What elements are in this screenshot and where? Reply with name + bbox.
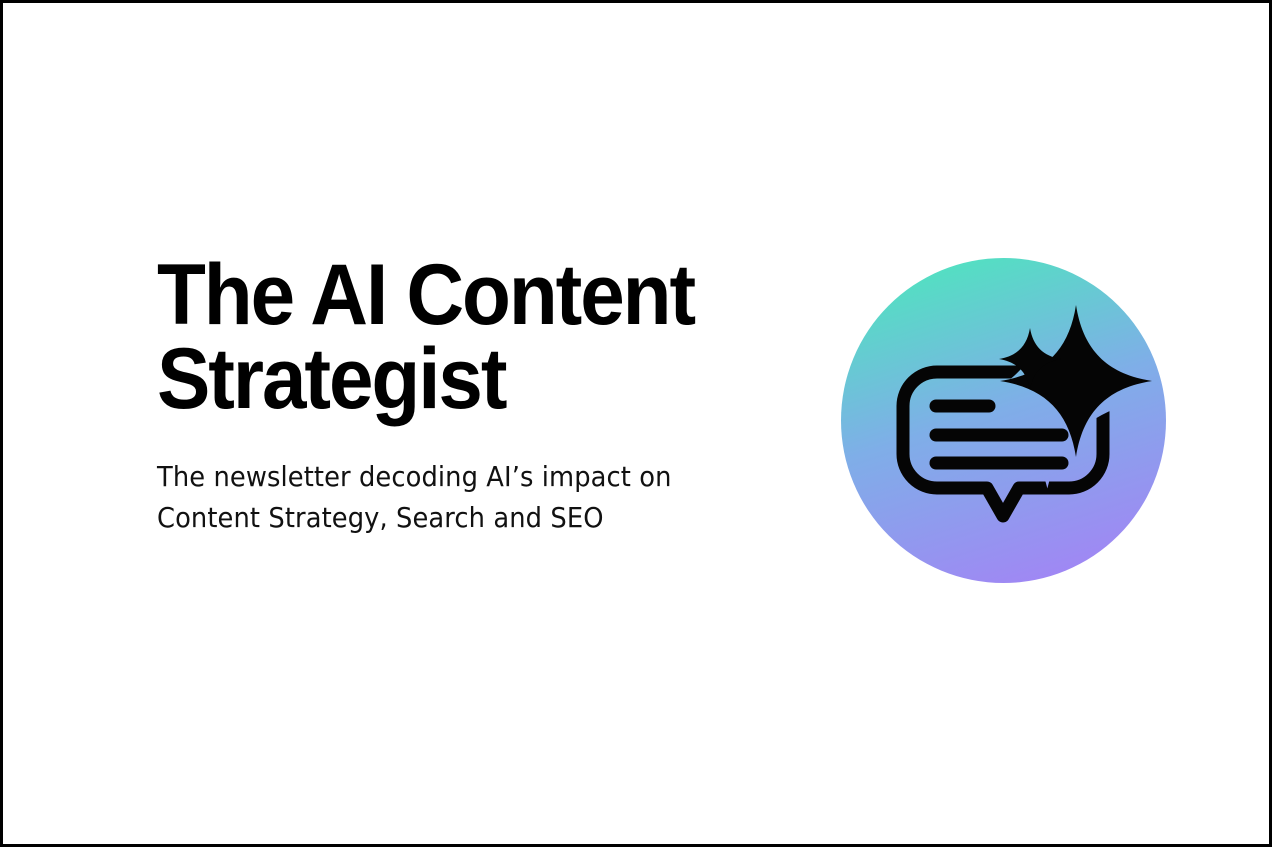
page-title: The AI Content Strategist — [157, 253, 771, 422]
ai-chat-sparkle-logo — [841, 258, 1166, 583]
banner-text-block: The AI Content Strategist The newsletter… — [157, 253, 817, 538]
logo-circle-background — [841, 258, 1166, 583]
newsletter-banner: The AI Content Strategist The newsletter… — [0, 0, 1272, 847]
banner-subtitle: The newsletter decoding AI’s impact on C… — [157, 422, 764, 539]
logo-svg — [841, 258, 1166, 583]
